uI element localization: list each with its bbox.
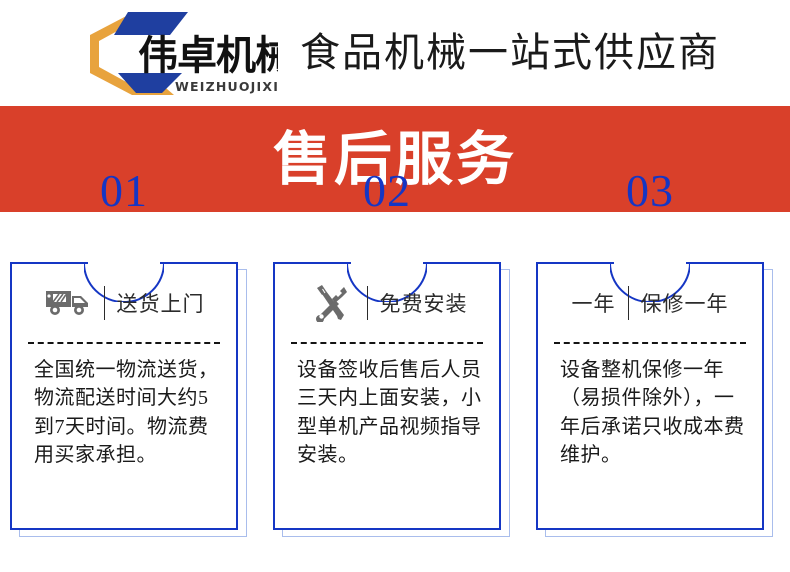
svg-text:伟卓机械: 伟卓机械 bbox=[138, 33, 278, 79]
card-content: 送货上门 全国统一物流送货，物流配送时间大约5到7天时间。物流费用买家承担。 bbox=[12, 264, 236, 528]
service-card-2: 免费安装 设备签收后售后人员三天内上面安装，小型单机产品视频指导安装。 02 bbox=[273, 212, 521, 572]
card-border-right bbox=[762, 262, 764, 530]
after-sales-service-page: 伟卓机械 WEIZHUOJIXIE 食品机械一站式供应商 售后服务 bbox=[0, 0, 790, 572]
card-header-separator bbox=[104, 286, 105, 320]
brand-tagline: 食品机械一站式供应商 bbox=[300, 33, 720, 73]
card-border-bottom bbox=[536, 528, 764, 530]
card-border-right bbox=[499, 262, 501, 530]
wrench-screwdriver-icon bbox=[307, 283, 355, 323]
card-header-separator bbox=[628, 286, 629, 320]
warranty-period-label: 一年 bbox=[572, 283, 616, 323]
card-number: 02 bbox=[273, 168, 501, 214]
page-header: 伟卓机械 WEIZHUOJIXIE 食品机械一站式供应商 bbox=[0, 0, 790, 106]
card-frame: 一年 保修一年 设备整机保修一年（易损件除外），一年后承诺只收成本费维护。 bbox=[536, 262, 764, 530]
logo-mark-icon: 伟卓机械 WEIZHUOJIXIE bbox=[70, 7, 278, 99]
card-header-separator bbox=[367, 286, 368, 320]
card-frame: 送货上门 全国统一物流送货，物流配送时间大约5到7天时间。物流费用买家承担。 bbox=[10, 262, 238, 530]
card-header: 一年 保修一年 bbox=[552, 264, 748, 342]
service-cards: 送货上门 全国统一物流送货，物流配送时间大约5到7天时间。物流费用买家承担。 0… bbox=[0, 212, 790, 572]
service-card-1: 送货上门 全国统一物流送货，物流配送时间大约5到7天时间。物流费用买家承担。 0… bbox=[10, 212, 258, 572]
service-card-3: 一年 保修一年 设备整机保修一年（易损件除外），一年后承诺只收成本费维护。 03 bbox=[536, 212, 784, 572]
card-header: 送货上门 bbox=[26, 264, 222, 342]
card-description: 设备整机保修一年（易损件除外），一年后承诺只收成本费维护。 bbox=[552, 344, 748, 470]
card-title: 送货上门 bbox=[117, 288, 205, 318]
card-border-bottom bbox=[10, 528, 238, 530]
card-content: 免费安装 设备签收后售后人员三天内上面安装，小型单机产品视频指导安装。 bbox=[275, 264, 499, 528]
card-border-right bbox=[236, 262, 238, 530]
card-title: 免费安装 bbox=[380, 288, 468, 318]
card-number: 03 bbox=[536, 168, 764, 214]
card-content: 一年 保修一年 设备整机保修一年（易损件除外），一年后承诺只收成本费维护。 bbox=[538, 264, 762, 528]
delivery-truck-icon bbox=[44, 283, 92, 323]
svg-text:WEIZHUOJIXIE: WEIZHUOJIXIE bbox=[175, 79, 278, 94]
brand-logo: 伟卓机械 WEIZHUOJIXIE bbox=[70, 7, 278, 99]
card-number: 01 bbox=[10, 168, 238, 214]
card-description: 设备签收后售后人员三天内上面安装，小型单机产品视频指导安装。 bbox=[289, 344, 485, 470]
card-header: 免费安装 bbox=[289, 264, 485, 342]
card-title: 保修一年 bbox=[641, 288, 729, 318]
card-border-bottom bbox=[273, 528, 501, 530]
card-frame: 免费安装 设备签收后售后人员三天内上面安装，小型单机产品视频指导安装。 bbox=[273, 262, 501, 530]
card-description: 全国统一物流送货，物流配送时间大约5到7天时间。物流费用买家承担。 bbox=[26, 344, 222, 470]
